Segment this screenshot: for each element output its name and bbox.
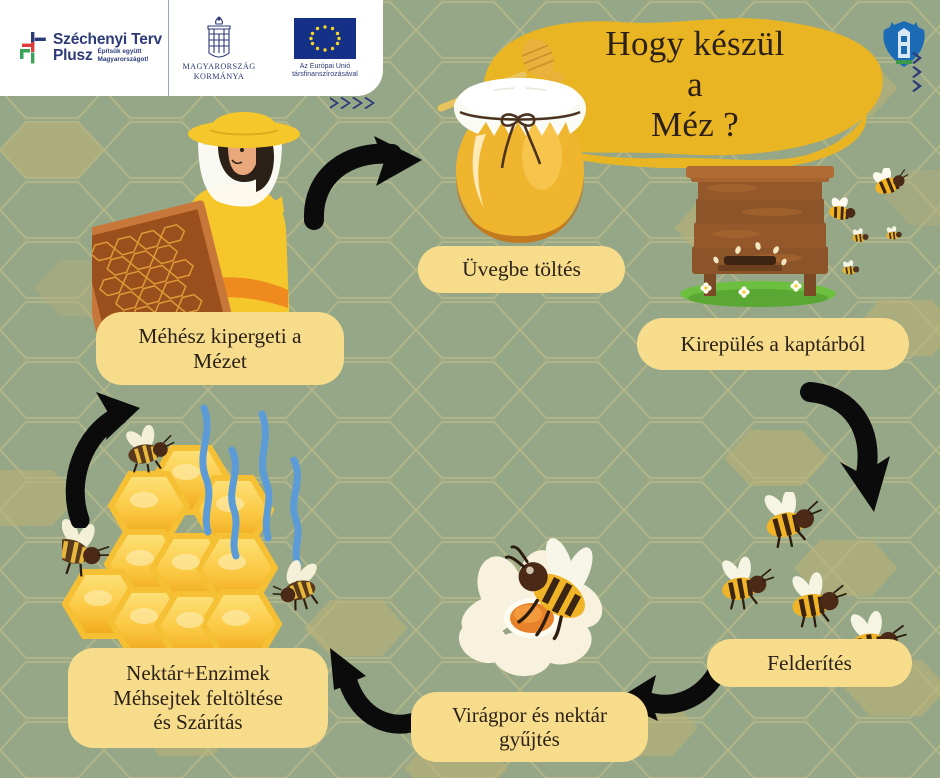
bee-on-flower-illustration: [448, 524, 638, 694]
step-label-uvegbe-toltes[interactable]: Üvegbe töltés: [418, 246, 625, 293]
curved-arrow-up-icon: [62, 388, 152, 528]
eu-funding-header: Széchenyi Terv Plusz Építsük együtt Magy…: [0, 0, 383, 96]
step-label-kirepules-a-kaptarbol[interactable]: Kirepülés a kaptárból: [637, 318, 909, 370]
step-label-text-line-1: Nektár+Enzimek: [126, 661, 270, 685]
hungarian-coat-of-arms-icon: [200, 15, 238, 59]
szechenyi-tagline-2: Magyarországot!: [98, 56, 149, 63]
bee-icon: [266, 553, 328, 616]
hive-flying-bees-illustration: [826, 168, 936, 298]
step-label-text: Felderítés: [767, 651, 852, 676]
title-line-1: Hogy készül: [605, 24, 784, 63]
szechenyi-line-2: Plusz: [53, 48, 92, 64]
bee-icon: [759, 492, 827, 550]
step-label-text-line-1: Virágpor és nektár: [452, 703, 607, 727]
szechenyi-tagline-1: Építsük együtt: [98, 48, 142, 55]
hungary-government-logo: MAGYARORSZÁG KORMÁNYA: [169, 0, 269, 96]
bee-icon: [827, 193, 858, 221]
step-label-nektar-enzimek[interactable]: Nektár+Enzimek Méhsejtek feltöltése és S…: [68, 648, 328, 748]
curved-arrow-right-icon: [300, 132, 440, 232]
eu-flag-icon: [294, 18, 356, 59]
beekeeper-hat-icon: [188, 112, 300, 148]
step-label-mehesz-kipergeti-a-mezet[interactable]: Méhész kipergeti a Mézet: [96, 312, 344, 385]
bee-icon: [852, 227, 869, 242]
step-label-text-line-2: Mézet: [193, 349, 247, 373]
step-label-text: Üvegbe töltés: [462, 257, 581, 282]
infographic-canvas: Hogy készül a Méz ? Széchenyi Terv Plusz: [0, 0, 940, 778]
beekeeper-illustration: [92, 112, 322, 332]
step-label-viragpor-es-nektar-gyujtes[interactable]: Virágpor és nektár gyűjtés: [411, 692, 648, 762]
szechenyi-line-1: Széchenyi Terv: [53, 32, 162, 48]
bee-icon: [788, 567, 850, 629]
step-label-text: Kirepülés a kaptárból: [680, 332, 865, 357]
chevron-right-icon-group-vertical: [912, 52, 928, 92]
step-label-text-line-1: Méhész kipergeti a: [138, 324, 301, 348]
eu-caption-1: Az Európai Unió: [300, 63, 351, 70]
hungary-caption-2: KORMÁNYA: [194, 72, 245, 81]
step-label-text-line-2: gyűjtés: [499, 727, 560, 751]
bee-icon: [886, 225, 902, 239]
step-label-text-line-2: Méhsejtek feltöltése: [113, 686, 283, 710]
eu-cofinancing-logo: Az Európai Unió társfinanszírozásával: [269, 0, 381, 96]
bee-icon: [722, 551, 777, 611]
szechenyi-cross-icon: [18, 31, 48, 65]
beehive-illustration: [672, 162, 852, 312]
hungary-caption-1: MAGYARORSZÁG: [182, 62, 255, 71]
chevron-right-icon-group-horizontal: [330, 95, 378, 111]
szechenyi-terv-plusz-logo: Széchenyi Terv Plusz Építsük együtt Magy…: [0, 0, 168, 96]
bee-icon: [869, 168, 912, 197]
step-label-felderites[interactable]: Felderítés: [707, 639, 912, 687]
bee-icon: [842, 259, 860, 274]
page-title: Hogy készül a Méz ?: [545, 24, 845, 146]
title-line-2: a: [545, 65, 845, 106]
eu-caption-2: társfinanszírozásával: [292, 71, 358, 78]
step-label-text-line-3: és Szárítás: [153, 710, 242, 734]
title-line-3: Méz ?: [545, 105, 845, 146]
